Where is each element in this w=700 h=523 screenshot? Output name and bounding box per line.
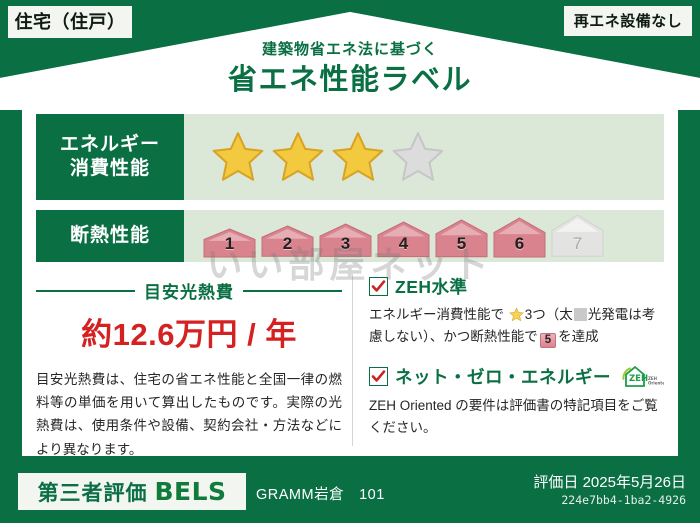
utility-cost-title: 目安光熱費 [144, 278, 234, 303]
insulation-level-number: 6 [492, 234, 547, 254]
label-content-card: エネルギー 消費性能 断熱性能 1234567 目安光熱費 約12.6万 [22, 104, 678, 456]
bels-label-en: BELS [154, 477, 226, 506]
energy-label-line2: 消費性能 [70, 157, 150, 181]
insulation-level-6: 6 [492, 217, 547, 258]
utility-cost-panel: 目安光熱費 約12.6万円 / 年 目安光熱費は、住宅の省エネ性能と全国一律の燃… [36, 274, 352, 446]
zeh-text-part5: を達成 [558, 329, 599, 344]
tag-housing-type: 住宅（住戸） [8, 6, 132, 38]
bels-certification-plate: 第三者評価 BELS [18, 473, 246, 510]
svg-text:ZEH: ZEH [629, 374, 648, 384]
star-rating [210, 130, 446, 184]
zeh-oriented-logo-icon: ZEH ZEH Oriented [620, 363, 664, 390]
star-filled-icon [210, 130, 266, 184]
insulation-level-number: 7 [550, 234, 605, 254]
zeh-panel: ZEH水準 エネルギー消費性能で 3つ（太光発電は考慮しない）、かつ断熱性能で5… [352, 274, 664, 446]
insulation-level-3: 3 [318, 223, 373, 257]
zeh-standard-title: ZEH水準 [395, 274, 468, 299]
zeh-netzero-block: ネット・ゼロ・エネルギー ZEH ZEH Oriented ZEH Orient… [369, 363, 664, 440]
insulation-level-5: 5 [434, 219, 489, 258]
zeh-standard-text: エネルギー消費性能で 3つ（太光発電は考慮しない）、かつ断熱性能で5を達成 [369, 304, 664, 349]
tag-renewable-equipment: 再エネ設備なし [564, 6, 692, 36]
inline-star-icon [509, 307, 524, 322]
insulation-level-number: 5 [434, 234, 489, 254]
bels-energy-label: 住宅（住戸） 再エネ設備なし 建築物省エネ法に基づく 省エネ性能ラベル エネルギ… [0, 0, 700, 523]
footer-bar: 第三者評価 BELS GRAMM岩倉 101 評価日 2025年5月26日 22… [0, 461, 700, 523]
insulation-performance-row: 断熱性能 1234567 [36, 210, 664, 262]
checkbox-checked-icon-2 [369, 367, 388, 386]
energy-performance-row: エネルギー 消費性能 [36, 114, 664, 200]
title-subtitle: 建築物省エネ法に基づく [0, 42, 700, 59]
insulation-level-scale: 1234567 [202, 214, 605, 257]
energy-performance-label: エネルギー 消費性能 [36, 114, 184, 200]
zeh-text-part2: 3つ（太 [525, 307, 573, 322]
insulation-level-number: 1 [202, 234, 257, 254]
building-name: GRAMM岩倉 101 [256, 483, 385, 504]
zeh-netzero-heading: ネット・ゼロ・エネルギー ZEH ZEH Oriented [369, 363, 664, 390]
rule-left [36, 290, 135, 292]
utility-cost-value: 約12.6万円 / 年 [36, 309, 342, 354]
insulation-level-number: 3 [318, 234, 373, 254]
utility-cost-note: 目安光熱費は、住宅の省エネ性能と全国一律の燃料等の単価を用いて算出したものです。… [36, 368, 342, 461]
lower-panel: 目安光熱費 約12.6万円 / 年 目安光熱費は、住宅の省エネ性能と全国一律の燃… [36, 274, 664, 446]
zeh-standard-heading: ZEH水準 [369, 274, 664, 299]
energy-performance-body [184, 114, 664, 200]
insulation-level-4: 4 [376, 221, 431, 258]
insulation-performance-body: 1234567 [184, 210, 664, 262]
evaluation-id: 224e7bb4-1ba2-4926 [561, 493, 686, 507]
zeh-netzero-title: ネット・ゼロ・エネルギー [395, 364, 611, 389]
zeh-text-part1: エネルギー消費性能で [369, 307, 504, 322]
insulation-level-7: 7 [550, 214, 605, 257]
svg-text:Oriented: Oriented [648, 380, 664, 385]
inline-insulation-badge: 5 [540, 333, 556, 348]
redacted-mark [574, 308, 587, 321]
insulation-level-2: 2 [260, 225, 315, 257]
bels-label-jp: 第三者評価 [37, 477, 147, 507]
evaluation-date: 評価日 2025年5月26日 [533, 471, 686, 492]
insulation-level-1: 1 [202, 228, 257, 258]
title-main: 省エネ性能ラベル [0, 62, 700, 98]
insulation-level-number: 4 [376, 234, 431, 254]
insulation-performance-label: 断熱性能 [36, 210, 184, 262]
energy-label-line1: エネルギー [60, 133, 160, 157]
insulation-level-number: 2 [260, 234, 315, 254]
star-filled-icon [330, 130, 386, 184]
zeh-text-part3: 光発電 [588, 307, 629, 322]
utility-cost-heading: 目安光熱費 [36, 278, 342, 303]
zeh-netzero-text: ZEH Oriented の要件は評価書の特記項目をご覧ください。 [369, 395, 664, 440]
checkbox-checked-icon [369, 277, 388, 296]
label-title-block: 建築物省エネ法に基づく 省エネ性能ラベル [0, 42, 700, 98]
star-empty-icon [390, 130, 446, 184]
rule-right [243, 290, 342, 292]
star-filled-icon [270, 130, 326, 184]
zeh-standard-block: ZEH水準 エネルギー消費性能で 3つ（太光発電は考慮しない）、かつ断熱性能で5… [369, 274, 664, 349]
